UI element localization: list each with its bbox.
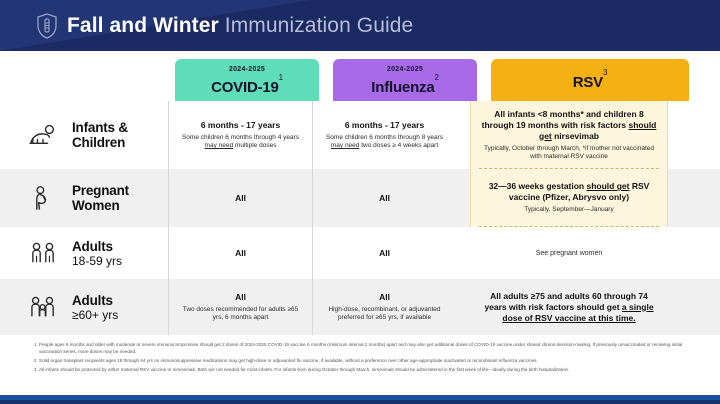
rsv-left-gap: [456, 227, 463, 279]
cell-infants-rsv-note: Typically, October through March, *if mo…: [479, 145, 659, 162]
cell-adults-60-plus-covid-note: Two doses recommended for adults ≥65 yrs…: [178, 306, 303, 323]
row-title-women: Women: [72, 198, 129, 213]
table-row-pregnant-women: Pregnant Women All All 32—36 weeks gesta…: [0, 169, 720, 227]
column-header-influenza-label: Influenza: [371, 79, 434, 96]
adult-family-icon: [26, 292, 60, 322]
cell-adults-18-59-influenza-main: All: [379, 248, 390, 259]
cell-adults-18-59-rsv-seealso: See pregnant women: [536, 250, 603, 257]
row-label-infants-children: Infants & Children: [0, 101, 168, 169]
cell-adults-18-59-rsv: See pregnant women: [470, 227, 668, 279]
guidance-table: Infants & Children 6 months - 17 years S…: [0, 101, 720, 335]
column-header-influenza: 2024-2025 Influenza2: [333, 59, 477, 101]
footnote-3: 3All infants should be protected by eith…: [34, 367, 694, 374]
row-title-adults-60-plus: Adults: [72, 293, 118, 308]
table-row-infants-children: Infants & Children 6 months - 17 years S…: [0, 101, 720, 169]
cell-adults-60-plus-rsv: All adults ≥75 and adults 60 through 74 …: [470, 279, 668, 335]
cell-infants-covid-main: 6 months - 17 years: [201, 120, 280, 131]
row-title-children: Children: [72, 135, 128, 150]
row-title-infants: Infants &: [72, 120, 128, 135]
rsv-left-gap: [456, 101, 463, 169]
column-header-covid: 2024-2025 COVID-191: [175, 59, 319, 101]
column-header-influenza-footnote-marker: 2: [434, 73, 438, 82]
row-title-adults-18-59: Adults: [72, 239, 122, 254]
column-header-rsv-label: RSV: [573, 74, 603, 91]
row-subtitle-adults-18-59: 18-59 yrs: [72, 254, 122, 268]
table-row-adults-18-59: Adults 18-59 yrs All All See pregnant wo…: [0, 227, 720, 279]
column-header-covid-footnote-marker: 1: [279, 73, 283, 82]
cell-infants-covid-note: Some children 6 months through 4 years m…: [178, 134, 303, 151]
immunization-guide-infographic: Fall and Winter Immunization Guide 2024-…: [0, 0, 720, 404]
cell-pregnant-influenza: All: [312, 169, 456, 227]
column-header-influenza-name: Influenza2: [333, 75, 477, 96]
cell-infants-covid: 6 months - 17 years Some children 6 mont…: [168, 101, 312, 169]
bottom-accent-bar-dark: [0, 400, 720, 404]
cell-adults-18-59-covid: All: [168, 227, 312, 279]
cell-adults-60-plus-influenza-main: All: [379, 292, 390, 303]
row-title-pregnant: Pregnant: [72, 183, 129, 198]
footnote-2-text: Solid organ transplant recipients ages 1…: [39, 358, 538, 363]
column-header-rsv-name: RSV3: [491, 70, 689, 91]
cell-adults-60-plus-rsv-main: All adults ≥75 and adults 60 through 74 …: [479, 291, 659, 324]
cell-infants-rsv: All infants <8 months* and children 8 th…: [470, 101, 668, 169]
footnote-1-marker: 1: [34, 342, 36, 349]
row-label-text-infants-children: Infants & Children: [72, 120, 128, 150]
cell-pregnant-rsv-note: Typically, September—January: [524, 206, 613, 215]
cell-pregnant-rsv: 32—36 weeks gestation should get RSV vac…: [470, 169, 668, 227]
row-label-text-adults-60-plus: Adults ≥60+ yrs: [72, 293, 118, 322]
footnote-1-text: People ages 6 months and older with mode…: [39, 342, 682, 354]
column-header-covid-label: COVID-19: [211, 79, 279, 96]
footnote-2: 2Solid organ transplant recipients ages …: [34, 358, 694, 365]
cell-infants-rsv-main: All infants <8 months* and children 8 th…: [479, 109, 659, 142]
cell-adults-60-plus-covid: All Two doses recommended for adults ≥65…: [168, 279, 312, 335]
column-header-influenza-year: 2024-2025: [333, 65, 477, 75]
cell-adults-18-59-influenza: All: [312, 227, 456, 279]
table-row-adults-60-plus: Adults ≥60+ yrs All Two doses recommende…: [0, 279, 720, 335]
row-label-pregnant-women: Pregnant Women: [0, 169, 168, 227]
cell-adults-60-plus-influenza: All High-dose, recombinant, or adjuvante…: [312, 279, 456, 335]
pregnant-woman-icon: [26, 183, 60, 213]
footnote-2-marker: 2: [34, 358, 36, 365]
page-title: Fall and Winter Immunization Guide: [67, 14, 413, 38]
column-header-covid-name: COVID-191: [175, 75, 319, 96]
footnote-1: 1People ages 6 months and older with mod…: [34, 342, 694, 355]
rsv-left-gap: [456, 279, 463, 335]
cell-adults-18-59-covid-main: All: [235, 248, 246, 259]
row-label-text-pregnant-women: Pregnant Women: [72, 183, 129, 213]
cell-adults-60-plus-influenza-note: High-dose, recombinant, or adjuvanted pr…: [322, 306, 447, 323]
column-header-covid-year: 2024-2025: [175, 65, 319, 75]
shield-syringe-icon: [36, 13, 58, 39]
cell-pregnant-covid: All: [168, 169, 312, 227]
cell-pregnant-influenza-main: All: [379, 193, 390, 204]
row-subtitle-adults-60-plus: ≥60+ yrs: [72, 308, 118, 322]
two-adults-icon: [26, 238, 60, 268]
crawling-baby-icon: [26, 120, 60, 150]
column-header-rsv-footnote-marker: 3: [603, 68, 607, 77]
cell-pregnant-rsv-main: 32—36 weeks gestation should get RSV vac…: [479, 181, 659, 203]
cell-infants-influenza-note: Some children 6 months through 8 years m…: [322, 134, 447, 151]
cell-pregnant-covid-main: All: [235, 193, 246, 204]
footnote-3-text: All infants should be protected by eithe…: [39, 367, 569, 372]
footnote-3-marker: 3: [34, 367, 36, 374]
column-headers: 2024-2025 COVID-191 2024-2025 Influenza2…: [0, 51, 720, 101]
cell-infants-influenza-main: 6 months - 17 years: [345, 120, 424, 131]
page-title-bold: Fall and Winter: [67, 14, 219, 37]
footnotes: 1People ages 6 months and older with mod…: [0, 335, 720, 373]
row-label-adults-18-59: Adults 18-59 yrs: [0, 227, 168, 279]
row-label-adults-60-plus: Adults ≥60+ yrs: [0, 279, 168, 335]
column-header-rsv: RSV3: [491, 59, 689, 101]
rsv-left-gap: [456, 169, 463, 227]
row-label-text-adults-18-59: Adults 18-59 yrs: [72, 239, 122, 268]
page-header: Fall and Winter Immunization Guide: [0, 0, 720, 51]
cell-infants-influenza: 6 months - 17 years Some children 6 mont…: [312, 101, 456, 169]
cell-adults-60-plus-covid-main: All: [235, 292, 246, 303]
page-title-light: Immunization Guide: [225, 14, 414, 37]
